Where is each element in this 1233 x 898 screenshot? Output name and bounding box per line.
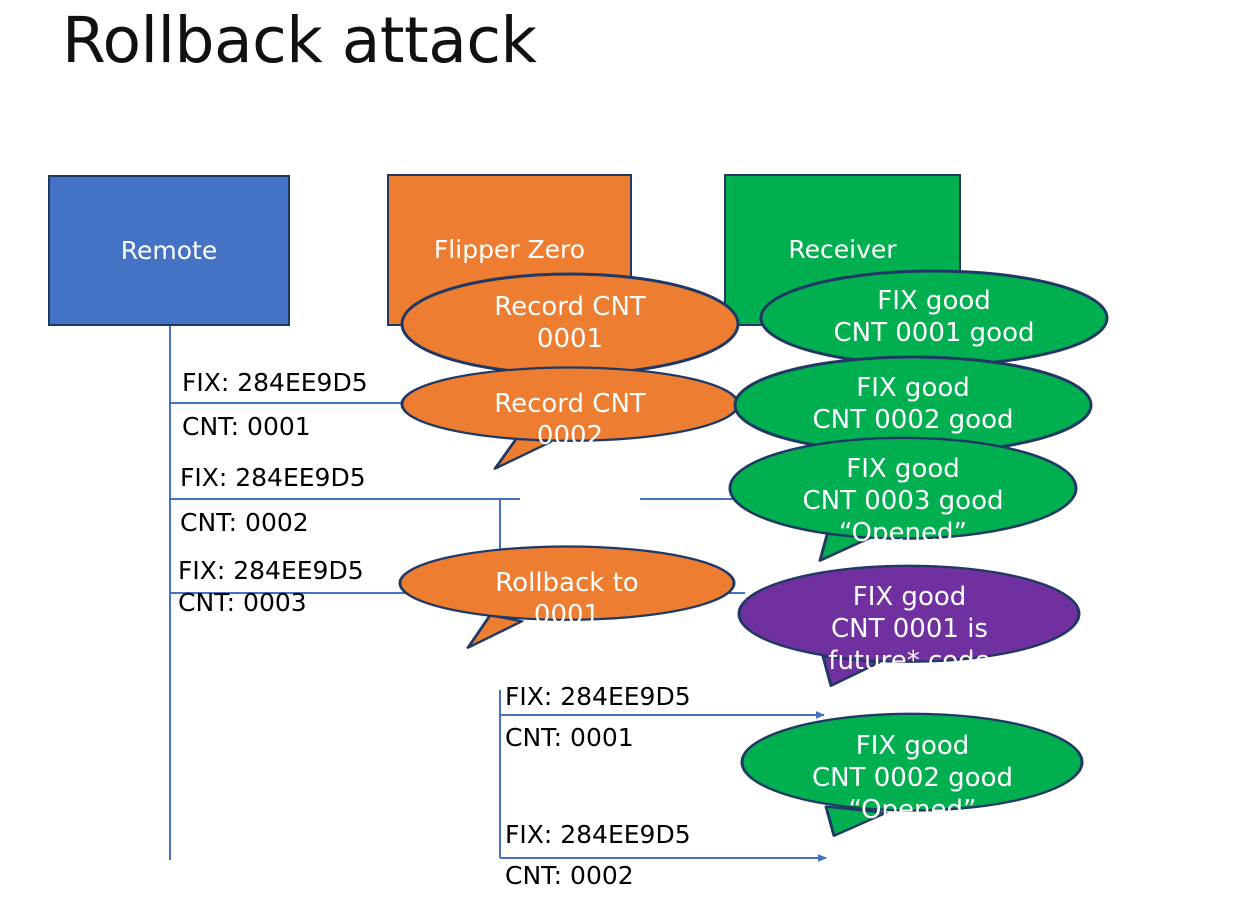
callout-line: FIX good <box>737 582 1082 614</box>
callout-rx-cnt-0002-opened[interactable]: FIX good CNT 0002 good “Opened” <box>740 713 1085 845</box>
callout-line: FIX good <box>759 286 1109 318</box>
message-m2-cnt: CNT: 0002 <box>180 509 309 538</box>
callout-line: “Opened” <box>728 518 1078 550</box>
callout-line: CNT 0001 is <box>737 614 1082 646</box>
callout-rx-cnt-0001-good[interactable]: FIX good CNT 0001 good <box>759 269 1109 367</box>
message-m3-fix: FIX: 284EE9D5 <box>178 557 364 586</box>
node-receiver-label: Receiver <box>788 236 896 264</box>
callout-line: Record CNT <box>400 292 740 324</box>
message-m1-fix: FIX: 284EE9D5 <box>182 369 368 398</box>
callout-line: Record CNT <box>400 389 740 421</box>
callout-line: Rollback to <box>398 568 736 600</box>
callout-line: “Opened” <box>740 795 1085 827</box>
message-m4-fix: FIX: 284EE9D5 <box>505 683 691 712</box>
callout-rx-future-code-warning[interactable]: FIX good CNT 0001 is future* code <box>737 565 1082 695</box>
message-m5-cnt: CNT: 0002 <box>505 862 634 891</box>
callout-line: 0001 <box>398 600 736 632</box>
node-remote-label: Remote <box>121 237 217 265</box>
callout-line: 0001 <box>400 324 740 356</box>
callout-record-cnt-0002[interactable]: Record CNT 0002 <box>400 366 740 476</box>
slide-canvas: Rollback attack Remote Flipper Zero Rece… <box>0 0 1233 898</box>
message-m5-fix: FIX: 284EE9D5 <box>505 821 691 850</box>
callout-line: CNT 0002 good <box>740 763 1085 795</box>
callout-line: 0002 <box>400 421 740 453</box>
message-m3-cnt: CNT: 0003 <box>178 589 307 618</box>
message-m4-cnt: CNT: 0001 <box>505 724 634 753</box>
callout-line: FIX good <box>740 731 1085 763</box>
message-m1-cnt: CNT: 0001 <box>182 413 311 442</box>
callout-line: FIX good <box>733 373 1093 405</box>
callout-line: CNT 0001 good <box>759 318 1109 350</box>
node-remote[interactable]: Remote <box>48 175 290 326</box>
callout-line: CNT 0003 good <box>728 486 1078 518</box>
callout-line: future* code <box>737 646 1082 678</box>
callout-rollback-to-0001[interactable]: Rollback to 0001 <box>398 545 736 655</box>
callout-line: FIX good <box>728 454 1078 486</box>
callout-rx-cnt-0003-opened[interactable]: FIX good CNT 0003 good “Opened” <box>728 437 1078 567</box>
node-flipper-label: Flipper Zero <box>434 236 585 264</box>
message-m2-fix: FIX: 284EE9D5 <box>180 464 366 493</box>
callout-record-cnt-0001[interactable]: Record CNT 0001 <box>400 272 740 376</box>
callout-line: CNT 0002 good <box>733 405 1093 437</box>
